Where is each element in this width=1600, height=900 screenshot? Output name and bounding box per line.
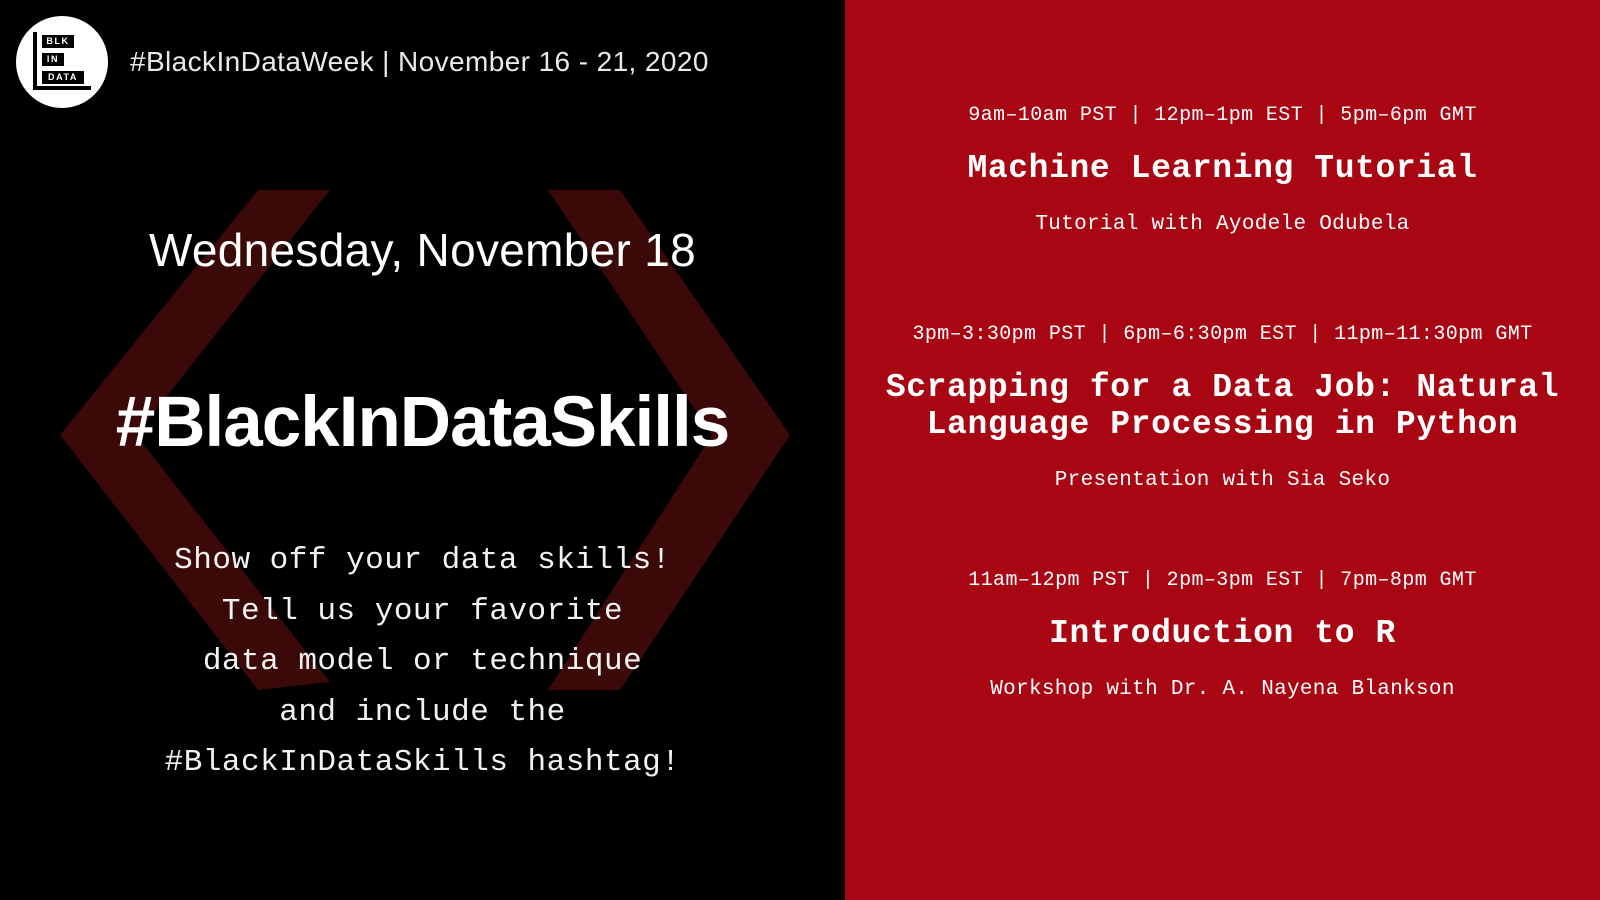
description-line: Show off your data skills! (0, 536, 845, 587)
left-content: Wednesday, November 18 #BlackInDataSkill… (0, 0, 845, 789)
session-presenter: Tutorial with Ayodele Odubela (869, 188, 1576, 237)
session-time: 11am–12pm PST | 2pm–3pm EST | 7pm–8pm GM… (869, 569, 1576, 593)
description-line: Tell us your favorite (0, 587, 845, 638)
session-title: Machine Learning Tutorial (869, 128, 1576, 188)
event-poster: BLK IN DATA #BlackInDataWeek | November … (0, 0, 1600, 900)
event-description: Show off your data skills! Tell us your … (0, 460, 845, 789)
poster-header: BLK IN DATA #BlackInDataWeek | November … (16, 14, 709, 110)
logo-inner: BLK IN DATA (33, 32, 93, 92)
description-line: and include the (0, 688, 845, 739)
session-title: Introduction to R (869, 593, 1576, 653)
header-title: #BlackInDataWeek | November 16 - 21, 202… (130, 46, 709, 78)
logo-text-data: DATA (42, 71, 84, 84)
session-card: 11am–12pm PST | 2pm–3pm EST | 7pm–8pm GM… (845, 569, 1600, 702)
schedule-panel: 9am–10am PST | 12pm–1pm EST | 5pm–6pm GM… (845, 0, 1600, 900)
session-card: 3pm–3:30pm PST | 6pm–6:30pm EST | 11pm–1… (845, 323, 1600, 493)
event-hashtag-headline: #BlackInDataSkills (0, 276, 845, 461)
description-line: #BlackInDataSkills hashtag! (0, 738, 845, 789)
logo-text-blk: BLK (42, 35, 74, 48)
session-time: 9am–10am PST | 12pm–1pm EST | 5pm–6pm GM… (869, 104, 1576, 128)
description-line: data model or technique (0, 637, 845, 688)
session-presenter: Workshop with Dr. A. Nayena Blankson (869, 653, 1576, 702)
session-card: 9am–10am PST | 12pm–1pm EST | 5pm–6pm GM… (845, 104, 1600, 237)
blk-in-data-logo-icon: BLK IN DATA (16, 16, 108, 108)
session-title: Scrapping for a Data Job: Natural Langua… (869, 347, 1576, 444)
left-panel: BLK IN DATA #BlackInDataWeek | November … (0, 0, 845, 900)
logo-text-in: IN (42, 53, 64, 66)
session-presenter: Presentation with Sia Seko (869, 444, 1576, 493)
event-day-label: Wednesday, November 18 (0, 225, 845, 276)
session-time: 3pm–3:30pm PST | 6pm–6:30pm EST | 11pm–1… (869, 323, 1576, 347)
